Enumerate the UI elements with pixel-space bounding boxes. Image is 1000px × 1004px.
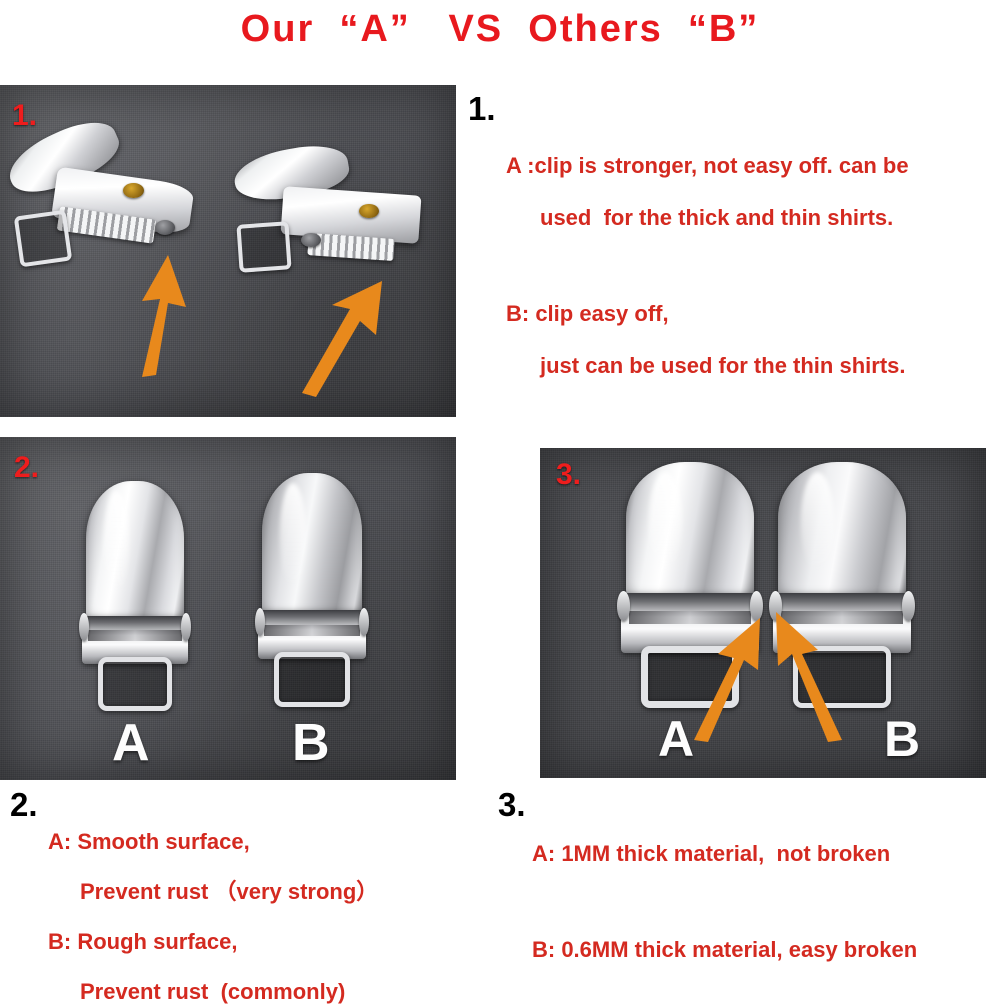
arrow-pointing-clip-a-thickness — [688, 610, 768, 742]
section-3-number: 3. — [498, 788, 1000, 821]
clip-b-front-view — [262, 473, 362, 709]
clip-a-front-view — [86, 481, 184, 713]
section-2-line-3: B: Rough surface, — [48, 931, 470, 953]
photo-panel-2: 2. A B — [0, 437, 456, 780]
photo-3-label-a: A — [658, 714, 694, 764]
section-3-line-1: A: 1MM thick material, not broken — [532, 843, 1000, 865]
photo-1-number: 1. — [12, 99, 37, 133]
page-title: Our “A” VS Others “B” — [0, 8, 1000, 51]
clip-a-pin-right — [181, 613, 191, 641]
arrow-pointing-clip-b — [290, 257, 400, 397]
arrow-pointing-clip-b-thickness — [762, 604, 848, 742]
section-1-line-2: used for the thick and thin shirts. — [540, 207, 1000, 229]
photo-3-label-b: B — [884, 714, 920, 764]
section-1-line-4: B: clip easy off, — [506, 303, 1000, 325]
section-1-line-1: A :clip is stronger, not easy off. can b… — [506, 155, 1000, 177]
photo-2-vignette — [0, 437, 456, 780]
text-block-1: 1. A :clip is stronger, not easy off. ca… — [468, 92, 1000, 377]
arrow-pointing-clip-a — [120, 237, 210, 377]
clip-b-hook — [236, 221, 291, 273]
clip-b-thick-cap — [778, 462, 906, 601]
clip-a-hook — [14, 210, 73, 268]
clip-b-rivet — [359, 204, 379, 218]
clip-a-d-ring — [98, 657, 172, 710]
photo-panel-1: 1. A B — [0, 85, 456, 417]
clip-b-d-ring — [274, 652, 350, 706]
clip-b-cap — [262, 473, 362, 619]
section-2-line-1: A: Smooth surface, — [48, 831, 470, 853]
section-3-line-3: B: 0.6MM thick material, easy broken — [532, 939, 1000, 961]
clip-a-rivet — [123, 183, 143, 198]
section-1-line-5: just can be used for the thin shirts. — [540, 355, 1000, 377]
photo-2-label-a: A — [112, 717, 150, 769]
clip-a-pivot — [155, 220, 175, 235]
section-2-number: 2. — [10, 788, 470, 821]
clip-b-pin-right — [359, 608, 369, 636]
clip-a-thick-cap — [626, 462, 754, 601]
clip-b-thick-pin-right — [902, 591, 915, 621]
clip-a-pin-left — [79, 613, 89, 641]
photo-3-number: 3. — [556, 458, 581, 492]
clip-a-thick-pin-left — [617, 591, 630, 621]
clip-b-pin-left — [255, 608, 265, 636]
section-1-number: 1. — [468, 92, 1000, 125]
clip-a-cap — [86, 481, 184, 625]
photo-panel-3: 3. A B — [540, 448, 986, 778]
section-2-line-2: Prevent rust （very strong） — [80, 881, 470, 903]
section-3-line-2 — [532, 891, 1000, 913]
photo-2-number: 2. — [14, 451, 39, 485]
text-block-2: 2. A: Smooth surface, Prevent rust （very… — [10, 788, 470, 1003]
photo-2-label-b: B — [292, 717, 330, 769]
section-1-line-3 — [506, 255, 1000, 277]
text-block-3: 3. A: 1MM thick material, not broken B: … — [498, 788, 1000, 961]
